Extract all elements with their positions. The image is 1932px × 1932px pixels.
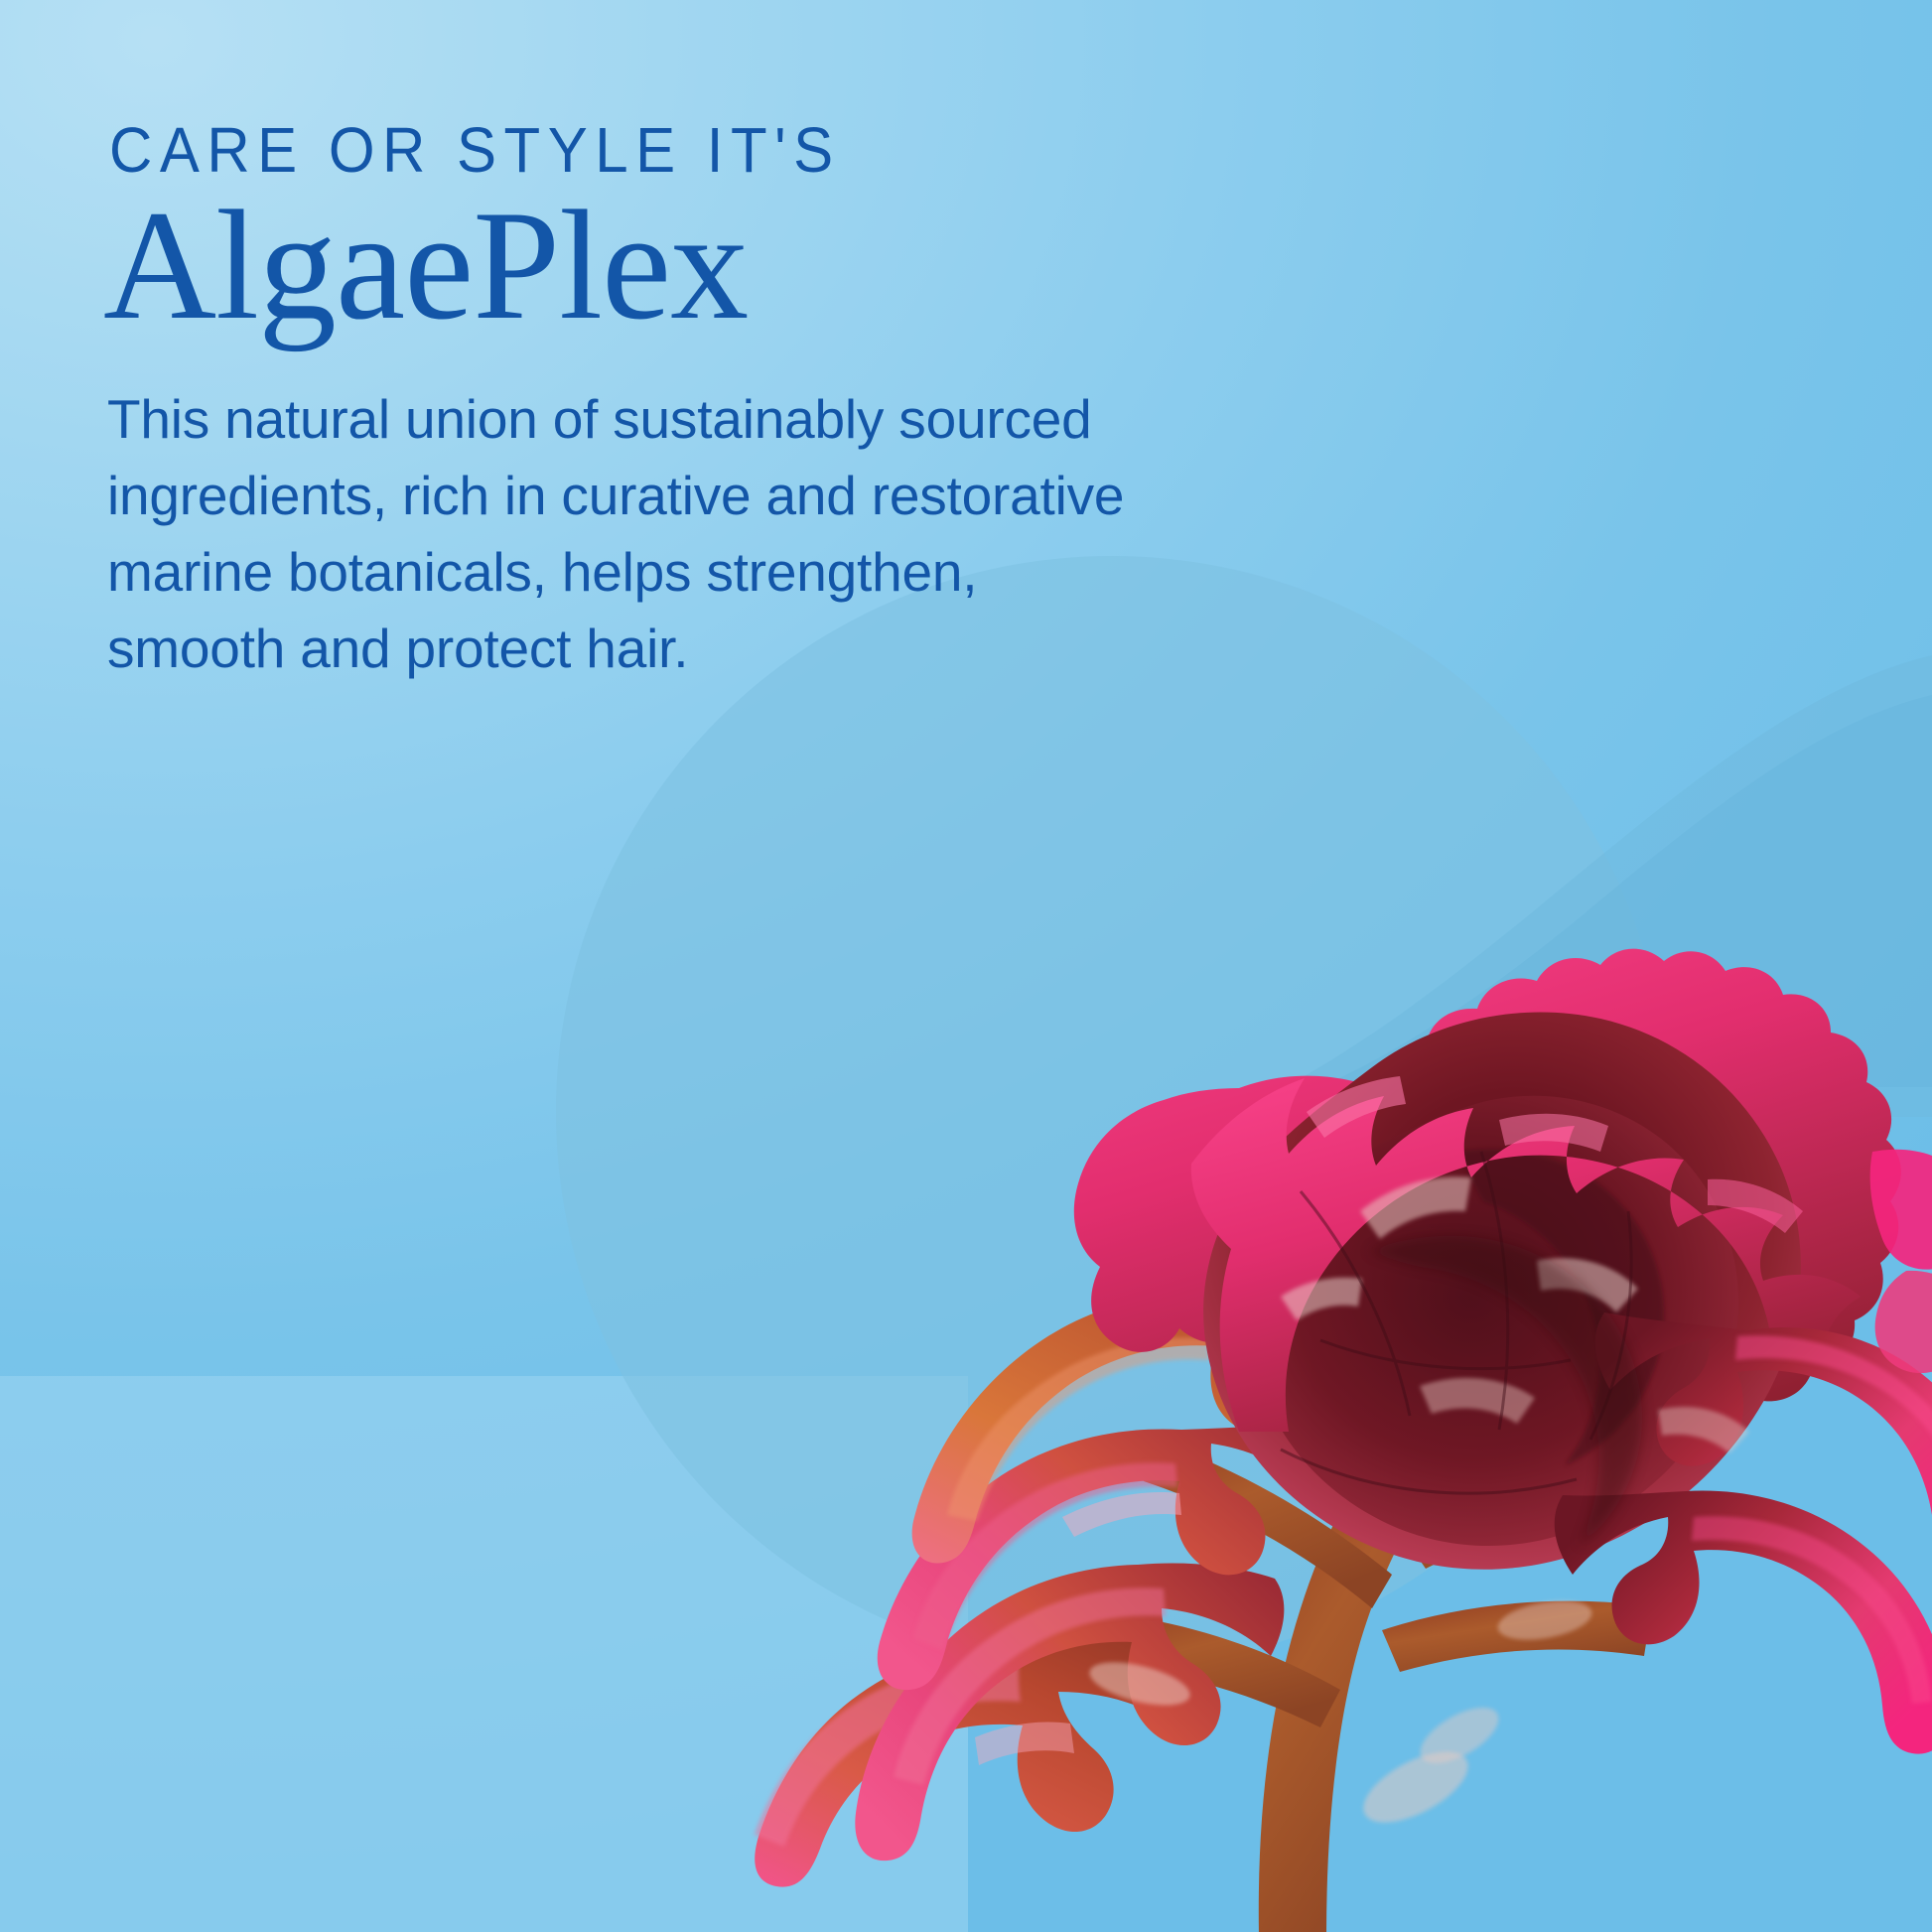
body-paragraph: This natural union of sustainably source… xyxy=(107,381,1160,687)
algae-frond-left-upper xyxy=(912,1285,1364,1564)
algae-frond-right xyxy=(1595,1312,1932,1564)
algae-shading xyxy=(1368,1236,1642,1547)
promo-canvas: CARE OR STYLE IT'S AlgaePlex This natura… xyxy=(0,0,1932,1932)
eyebrow-text: CARE OR STYLE IT'S xyxy=(109,119,1219,183)
algae-frond-far-right xyxy=(1870,1150,1932,1373)
algae-highlights xyxy=(1085,1176,1749,1837)
algae-frond-lower-left-2 xyxy=(855,1564,1284,1862)
background-panel xyxy=(0,1376,968,1932)
algae-frond-lower-left xyxy=(755,1636,1184,1887)
body-line-3: marine botanicals, helps strengthen, xyxy=(107,541,977,603)
algae-frond-left xyxy=(878,1420,1333,1690)
algae-veins xyxy=(1281,1152,1631,1493)
algae-crown xyxy=(1074,949,1901,1441)
algae-core xyxy=(1203,1012,1801,1569)
body-line-2: ingredients, rich in curative and restor… xyxy=(107,465,1124,526)
algae-frond-right-lower xyxy=(1555,1491,1932,1754)
brand-wordmark: AlgaePlex xyxy=(103,185,1219,347)
algae-top-ruffles xyxy=(1191,1076,1861,1432)
red-seaweed-algae-image xyxy=(427,556,1932,1932)
body-line-4: smooth and protect hair. xyxy=(107,618,688,679)
body-line-1: This natural union of sustainably source… xyxy=(107,388,1092,450)
background-blob xyxy=(556,556,1668,1668)
algae-stem xyxy=(1062,1326,1690,1932)
copy-block: CARE OR STYLE IT'S AlgaePlex This natura… xyxy=(107,119,1219,687)
